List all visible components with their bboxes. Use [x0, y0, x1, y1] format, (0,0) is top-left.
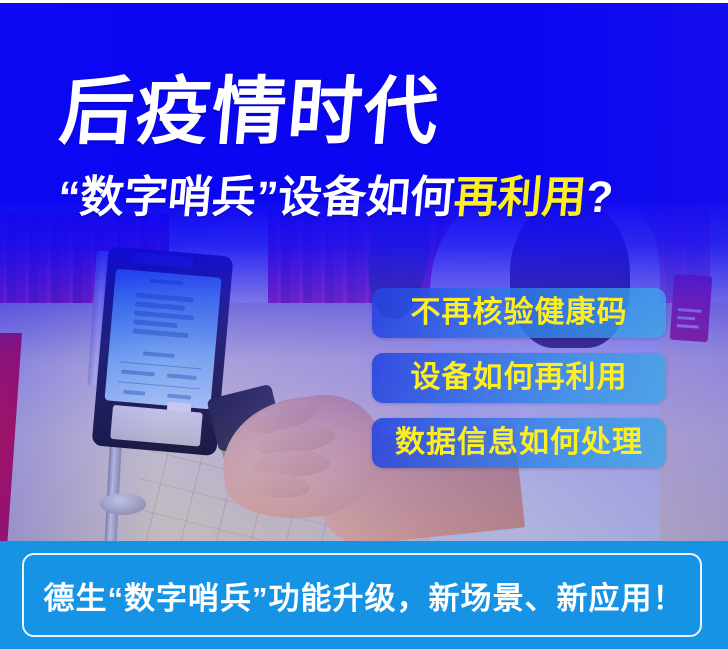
topic-pill-2[interactable]: 数据信息如何处理	[372, 418, 666, 468]
subtitle-highlight: 再利用	[452, 173, 588, 222]
topic-pill-0[interactable]: 不再核验健康码	[372, 288, 666, 338]
banner-text: 德生“数字哨兵”功能升级，新场景、新应用！	[44, 573, 685, 618]
subtitle-prefix: “数字哨兵”设备如何	[56, 173, 456, 222]
bottom-banner: 德生“数字哨兵”功能升级，新场景、新应用！	[0, 541, 728, 649]
topic-pill-1[interactable]: 设备如何再利用	[372, 353, 666, 403]
poster-root: 后疫情时代 “数字哨兵”设备如何再利用? 不再核验健康码 设备如何再利用 数据信…	[0, 0, 728, 649]
topic-pill-label: 数据信息如何处理	[395, 428, 643, 458]
topic-pill-label: 设备如何再利用	[411, 363, 628, 393]
topic-pill-label: 不再核验健康码	[411, 298, 628, 328]
page-subtitle: “数字哨兵”设备如何再利用?	[56, 172, 615, 224]
top-white-sliver	[0, 0, 728, 3]
subtitle-suffix: ?	[584, 173, 615, 222]
topic-pill-list: 不再核验健康码 设备如何再利用 数据信息如何处理	[372, 288, 672, 483]
page-title: 后疫情时代	[57, 72, 444, 152]
